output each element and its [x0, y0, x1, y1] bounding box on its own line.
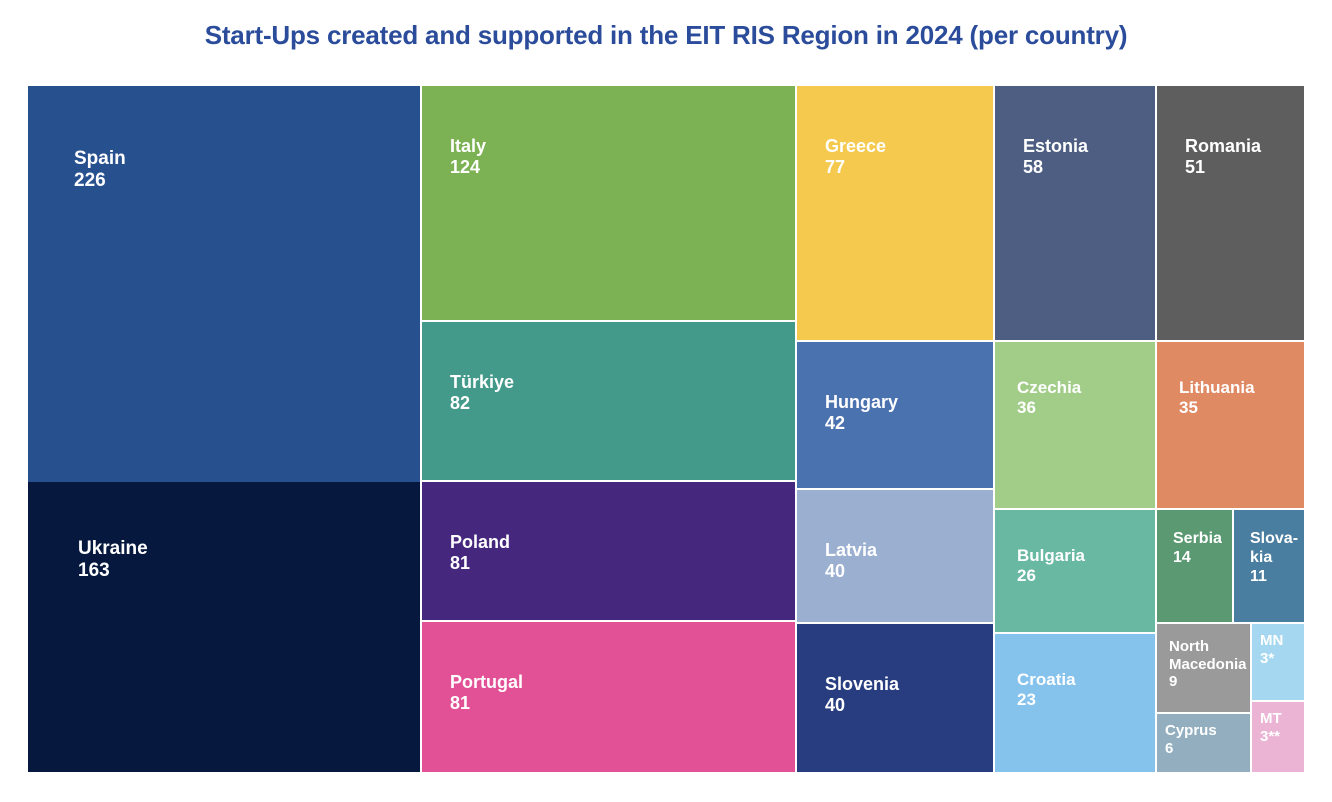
treemap-tile-turkiye[interactable]: Türkiye82 — [422, 322, 795, 480]
treemap-tile-cyprus[interactable]: Cyprus6 — [1157, 714, 1250, 772]
treemap-tile-value: 163 — [78, 560, 420, 582]
treemap-tile-mt[interactable]: MT3** — [1252, 702, 1304, 772]
treemap-tile-romania[interactable]: Romania51 — [1157, 86, 1304, 340]
treemap-tile-label: MN — [1260, 632, 1304, 650]
treemap-tile-label: Romania — [1185, 136, 1304, 157]
treemap-tile-label: Croatia — [1017, 670, 1155, 690]
treemap-tile-label: Czechia — [1017, 378, 1155, 398]
treemap-tile-czechia[interactable]: Czechia36 — [995, 342, 1155, 508]
treemap-tile-label: Spain — [74, 148, 420, 170]
treemap-tile-label: Lithuania — [1179, 378, 1304, 398]
treemap-tile-value: 11 — [1250, 568, 1304, 587]
treemap-tile-bulgaria[interactable]: Bulgaria26 — [995, 510, 1155, 632]
treemap-tile-label: Italy — [450, 136, 795, 157]
treemap-tile-label: Bulgaria — [1017, 546, 1155, 566]
treemap-tile-value: 9 — [1169, 673, 1250, 691]
treemap-tile-value: 58 — [1023, 157, 1155, 178]
treemap-tile-label: Slova- kia — [1250, 530, 1304, 568]
treemap-tile-value: 26 — [1017, 566, 1155, 586]
treemap-tile-value: 36 — [1017, 398, 1155, 418]
treemap-tile-label: Portugal — [450, 672, 795, 693]
treemap-tile-label: Poland — [450, 532, 795, 553]
treemap-tile-italy[interactable]: Italy124 — [422, 86, 795, 320]
treemap-tile-value: 14 — [1173, 549, 1232, 568]
treemap-tile-croatia[interactable]: Croatia23 — [995, 634, 1155, 772]
treemap-tile-label: Hungary — [825, 392, 993, 413]
treemap-tile-value: 3* — [1260, 650, 1304, 668]
treemap-tile-slovenia[interactable]: Slovenia40 — [797, 624, 993, 772]
treemap-tile-greece[interactable]: Greece77 — [797, 86, 993, 340]
treemap-tile-value: 82 — [450, 393, 795, 414]
treemap-tile-portugal[interactable]: Portugal81 — [422, 622, 795, 772]
treemap-tile-hungary[interactable]: Hungary42 — [797, 342, 993, 488]
treemap-tile-ukraine[interactable]: Ukraine163 — [28, 482, 420, 772]
treemap-tile-value: 3** — [1260, 728, 1304, 746]
treemap-tile-label: Serbia — [1173, 530, 1232, 549]
treemap-tile-slovakia[interactable]: Slova- kia11 — [1234, 510, 1304, 622]
treemap-tile-value: 51 — [1185, 157, 1304, 178]
treemap-tile-label: Türkiye — [450, 372, 795, 393]
treemap-tile-label: Cyprus — [1165, 722, 1250, 740]
treemap-tile-value: 40 — [825, 695, 993, 716]
treemap-tile-value: 81 — [450, 553, 795, 574]
treemap-tile-label: Greece — [825, 136, 993, 157]
treemap-tile-poland[interactable]: Poland81 — [422, 482, 795, 620]
treemap-tile-value: 226 — [74, 170, 420, 192]
treemap-tile-value: 77 — [825, 157, 993, 178]
treemap-tile-lithuania[interactable]: Lithuania35 — [1157, 342, 1304, 508]
treemap-tile-label: Ukraine — [78, 538, 420, 560]
treemap-tile-value: 124 — [450, 157, 795, 178]
treemap-tile-value: 42 — [825, 413, 993, 434]
treemap-tile-serbia[interactable]: Serbia14 — [1157, 510, 1232, 622]
treemap-tile-label: North Macedonia — [1169, 638, 1250, 673]
treemap-tile-estonia[interactable]: Estonia58 — [995, 86, 1155, 340]
treemap-tile-latvia[interactable]: Latvia40 — [797, 490, 993, 622]
treemap-tile-spain[interactable]: Spain226 — [28, 86, 420, 482]
treemap-tile-north-macedonia[interactable]: North Macedonia9 — [1157, 624, 1250, 712]
treemap-tile-label: Latvia — [825, 540, 993, 561]
treemap-tile-mn[interactable]: MN3* — [1252, 624, 1304, 700]
treemap-tile-value: 35 — [1179, 398, 1304, 418]
treemap-tile-value: 23 — [1017, 690, 1155, 710]
page-title: Start-Ups created and supported in the E… — [0, 20, 1332, 51]
treemap-tile-value: 6 — [1165, 740, 1250, 758]
treemap-page: Start-Ups created and supported in the E… — [0, 0, 1332, 802]
treemap-tile-value: 81 — [450, 693, 795, 714]
treemap-tile-label: Slovenia — [825, 674, 993, 695]
treemap-tile-value: 40 — [825, 561, 993, 582]
treemap-chart: Spain226Ukraine163Italy124Türkiye82Polan… — [28, 86, 1304, 772]
treemap-tile-label: Estonia — [1023, 136, 1155, 157]
treemap-tile-label: MT — [1260, 710, 1304, 728]
